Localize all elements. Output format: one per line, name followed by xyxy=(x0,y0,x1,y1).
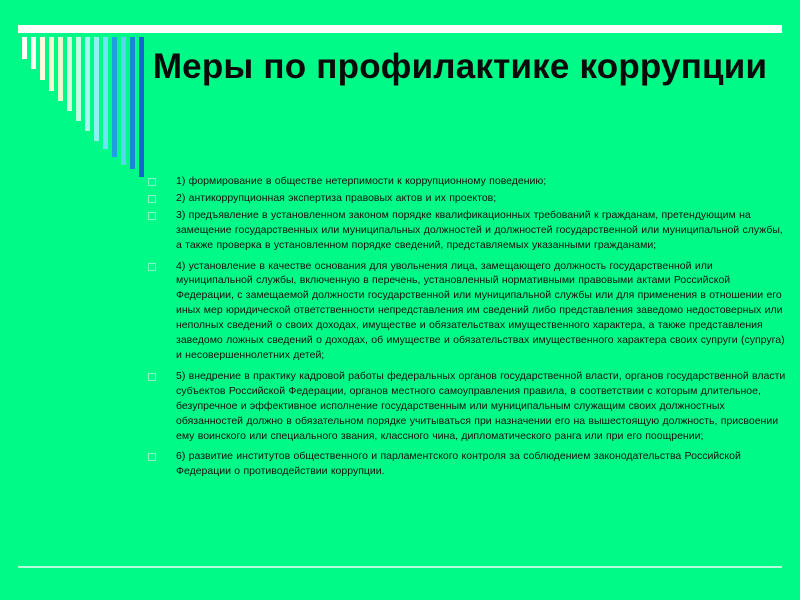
list-item-text: 2) антикоррупционная экспертиза правовых… xyxy=(176,191,788,206)
gradient-bar xyxy=(139,37,144,177)
square-bullet-icon xyxy=(148,373,156,381)
gradient-bar-ramp-decoration xyxy=(22,37,152,177)
gradient-bar xyxy=(130,37,135,169)
gradient-bar xyxy=(121,37,126,165)
list-item-text: 4) установление в качестве основания для… xyxy=(176,259,788,363)
square-bullet-icon xyxy=(148,212,156,220)
square-bullet-icon xyxy=(148,178,156,186)
bottom-divider-rule xyxy=(18,566,782,568)
square-bullet-icon xyxy=(148,263,156,271)
square-bullet-icon xyxy=(148,453,156,461)
list-item: 6) развитие институтов общественного и п… xyxy=(148,449,788,479)
page-title: Меры по профилактике коррупции xyxy=(150,45,770,90)
gradient-bar xyxy=(22,37,27,59)
list-item: 5) внедрение в практику кадровой работы … xyxy=(148,369,788,444)
list-item-text: 3) предъявление в установленном законом … xyxy=(176,208,788,253)
gradient-bar xyxy=(67,37,72,111)
gradient-bar xyxy=(94,37,99,141)
gradient-bar xyxy=(112,37,117,157)
slide: Меры по профилактике коррупции 1) формир… xyxy=(0,0,800,600)
list-item: 4) установление в качестве основания для… xyxy=(148,259,788,363)
bullet-list: 1) формирование в обществе нетерпимости … xyxy=(148,174,788,481)
list-item: 2) антикоррупционная экспертиза правовых… xyxy=(148,191,788,206)
gradient-bar xyxy=(85,37,90,131)
top-divider-rule xyxy=(18,25,782,33)
list-item: 1) формирование в обществе нетерпимости … xyxy=(148,174,788,189)
gradient-bar xyxy=(58,37,63,101)
gradient-bar xyxy=(76,37,81,121)
list-item-text: 5) внедрение в практику кадровой работы … xyxy=(176,369,788,444)
gradient-bar xyxy=(31,37,36,69)
list-item: 3) предъявление в установленном законом … xyxy=(148,208,788,253)
list-item-text: 6) развитие институтов общественного и п… xyxy=(176,449,788,479)
gradient-bar xyxy=(49,37,54,91)
gradient-bar xyxy=(103,37,108,149)
list-item-text: 1) формирование в обществе нетерпимости … xyxy=(176,174,788,189)
square-bullet-icon xyxy=(148,195,156,203)
gradient-bar xyxy=(40,37,45,80)
